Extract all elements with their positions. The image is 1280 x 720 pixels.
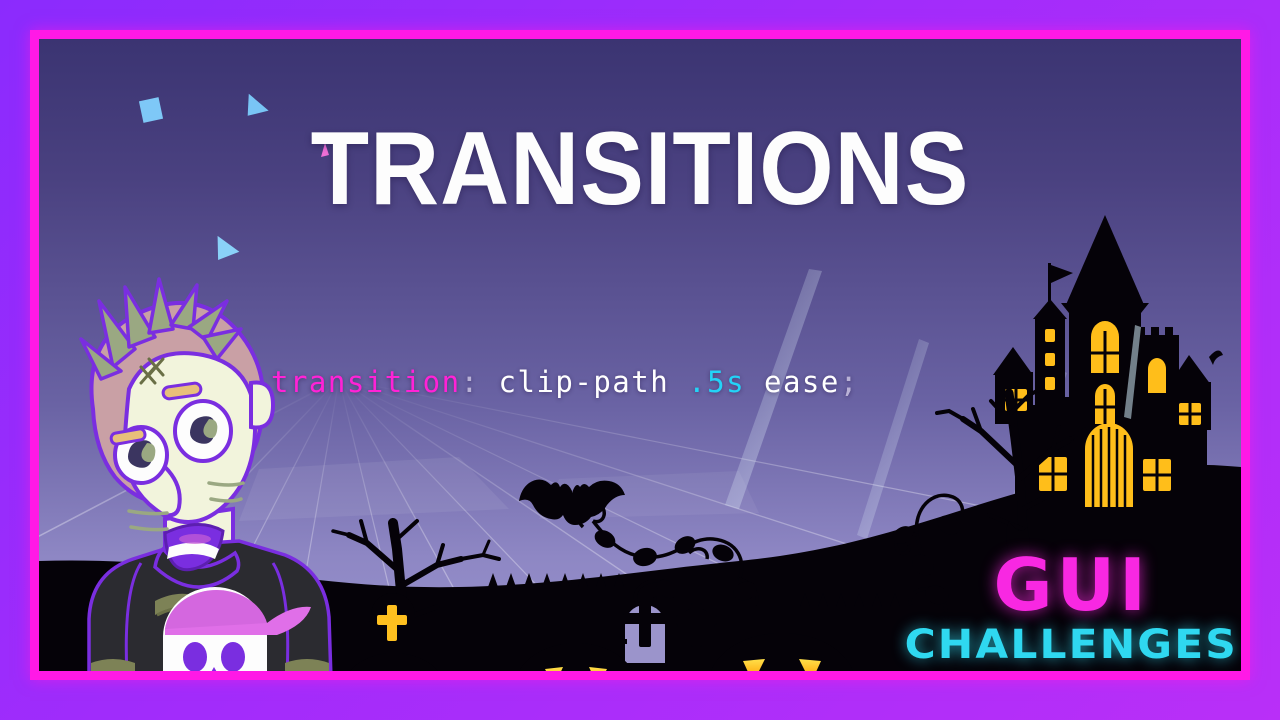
- zombie-presenter-avatar: [39, 271, 347, 671]
- code-semicolon: ;: [840, 365, 859, 399]
- jack-o-lantern-left: [339, 637, 449, 671]
- logo-gui-text: GUI: [914, 549, 1229, 621]
- code-duration: .5s: [688, 365, 745, 399]
- logo-challenges-text: CHALLENGES: [905, 625, 1238, 665]
- bat-silhouette: [517, 471, 627, 543]
- jack-o-lantern-right: [707, 617, 857, 671]
- halloween-scene: TRANSITIONS transition: clip-path .5s ea…: [39, 39, 1241, 671]
- code-colon: :: [461, 365, 480, 399]
- code-value: clip-path: [499, 365, 670, 399]
- code-easing: ease: [764, 365, 840, 399]
- code-snippet: transition: clip-path .5s ease;: [271, 365, 859, 399]
- confetti-triangle-blue-2: [209, 229, 255, 275]
- jack-o-lantern-center: [513, 627, 639, 671]
- magenta-frame-border: TRANSITIONS transition: clip-path .5s ea…: [30, 30, 1250, 680]
- gui-challenges-logo: GUI CHALLENGES: [914, 549, 1229, 665]
- video-thumbnail: TRANSITIONS transition: clip-path .5s ea…: [0, 0, 1280, 720]
- page-title: TRANSITIONS: [87, 117, 1193, 221]
